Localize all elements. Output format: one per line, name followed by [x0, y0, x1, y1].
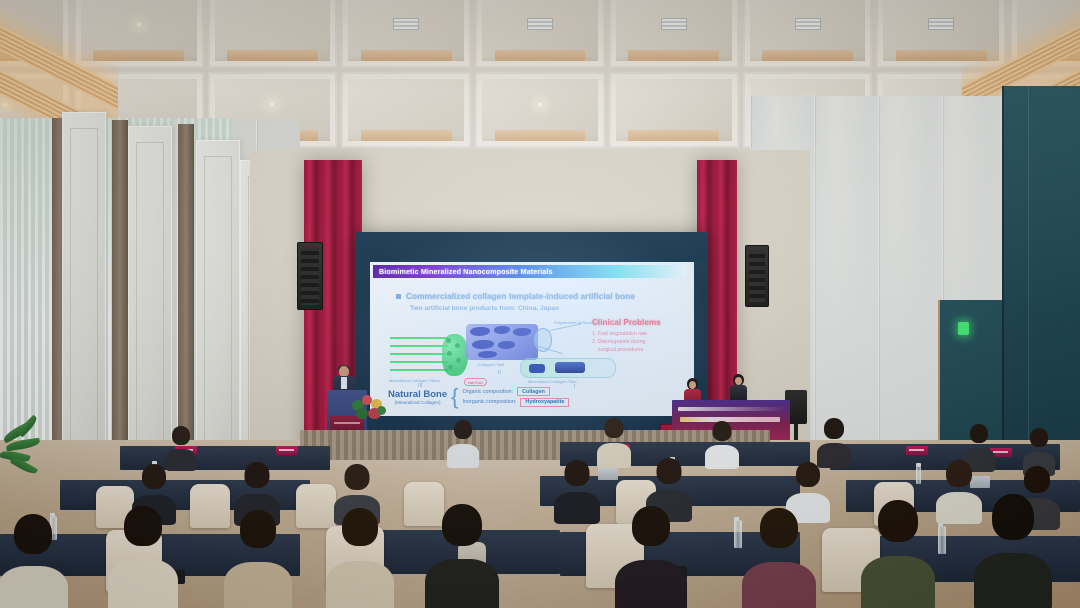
presenter-shirt [341, 377, 347, 389]
fiber-line [390, 345, 448, 347]
diagram-numeral-right: I [574, 384, 576, 390]
audience-member [330, 508, 390, 604]
line-array-speaker-left [297, 242, 323, 310]
nano-particle [529, 364, 545, 373]
audience-member [620, 506, 682, 604]
person-body [447, 444, 479, 468]
person-head [760, 508, 798, 548]
person-head [796, 462, 820, 487]
panelist [730, 374, 747, 400]
person-head [345, 464, 370, 490]
person-head [245, 462, 270, 488]
fiber-line [390, 353, 448, 355]
bottle-cap [916, 463, 921, 467]
ceiling-coffer [609, 0, 739, 68]
audience-member [706, 421, 738, 465]
natural-bone-label: Natural Bone (Mineralized Collagen) [388, 389, 447, 405]
banner-line [678, 407, 784, 411]
screen-letterbox [356, 232, 708, 262]
slide-bullet-text: Commercialized collagen template-induced… [406, 291, 635, 301]
diagram-numeral-mid: II [498, 370, 501, 376]
fibril-segment [494, 326, 510, 334]
mineral-dot [455, 343, 460, 348]
mineral-dot [446, 338, 451, 343]
person-body [554, 492, 600, 524]
fiber-line [390, 361, 448, 363]
ceiling-coffer [475, 0, 605, 68]
audience-member [112, 506, 174, 602]
person-body [108, 559, 178, 608]
table-nameplate [906, 446, 928, 455]
clinical-problem-item: 1. Fast degradation rate [592, 330, 684, 338]
composition-value: Collagen [517, 387, 550, 396]
clinical-problems-heading: Clinical Problems [592, 318, 684, 327]
clinical-problem-item: surgical procedures [592, 346, 684, 354]
person-head [454, 420, 472, 439]
audience-member [938, 460, 980, 518]
downlight-icon [269, 101, 276, 108]
composition-label: Inorganic composition: [462, 399, 516, 405]
downlight-icon [135, 21, 142, 28]
person-head [992, 494, 1034, 540]
person-head [713, 421, 732, 441]
bottle-cap [938, 523, 943, 527]
air-vent-icon [393, 18, 419, 30]
mineral-dot [448, 365, 453, 370]
fiber-line [390, 337, 448, 339]
collagen-fiber-bundle [390, 334, 468, 376]
person-head [657, 458, 682, 484]
audience-member [448, 420, 478, 464]
flower-leaf [377, 406, 386, 415]
diagram-label-collagen-fibril: Collagen Fibril [478, 362, 504, 367]
person-head [565, 460, 590, 486]
potted-plant [0, 418, 70, 488]
person-head [342, 508, 378, 546]
person-body [742, 562, 816, 608]
mineral-dot [447, 351, 452, 356]
brace-icon: { [451, 388, 458, 406]
natural-bone-name: Natural Bone [388, 389, 447, 400]
audience-member [980, 494, 1046, 602]
person-head [605, 418, 624, 438]
speaker-grille-icon [749, 250, 765, 302]
water-bottle [916, 466, 921, 484]
air-vent-icon [795, 18, 821, 30]
person-head [172, 426, 190, 445]
table-nameplate [276, 446, 298, 455]
fibril-segment [472, 340, 494, 349]
line-array-speaker-right [745, 245, 769, 307]
nameplate-text [279, 449, 294, 451]
audience-area [0, 418, 1080, 608]
ceiling-coffer [475, 72, 605, 149]
natural-bone-composition: Organic composition: Collagen Inorganic … [462, 386, 569, 409]
air-vent-icon [661, 18, 687, 30]
person-body [597, 443, 631, 468]
person-head [142, 464, 166, 489]
person-head [442, 504, 482, 546]
audience-chair [190, 484, 230, 528]
exit-sign-icon [958, 322, 969, 335]
audience-member [818, 418, 850, 464]
air-vent-icon [527, 18, 553, 30]
fibril-segment [470, 327, 490, 336]
slide-diagram: Mineralized Collagen Fibers III Collagen… [388, 320, 618, 388]
presentation-slide: Biomimetic Mineralized Nanocomposite Mat… [370, 262, 694, 416]
downlight-icon [536, 101, 543, 108]
diagram-label-fiber-bundle: Mineralized Collagen Fibers [389, 378, 440, 383]
natural-bone-subtitle: (Mineralized Collagen) [388, 400, 447, 405]
nameplate-text [909, 449, 924, 451]
audience-member [228, 510, 288, 604]
ceiling-coffer [208, 0, 338, 68]
person-body [861, 556, 935, 608]
speaker-grille-icon [301, 247, 319, 305]
panelist-face [735, 377, 742, 385]
clinical-problems-block: Clinical Problems 1. Fast degradation ra… [592, 318, 684, 354]
ceiling-coffer [743, 0, 873, 68]
person-head [946, 460, 972, 487]
audience-member [430, 504, 494, 604]
person-body [705, 445, 739, 469]
bottle-cap [734, 517, 739, 521]
conference-hall-photo: Biomimetic Mineralized Nanocomposite Mat… [0, 0, 1080, 608]
audience-member [556, 460, 598, 518]
person-body [425, 559, 499, 608]
mineralized-collagen-fiber-inset [520, 358, 616, 378]
person-head [878, 500, 918, 542]
clinical-problem-item: 2. Disintegration during [592, 338, 684, 346]
composition-row: Inorganic composition: Hydroxyapatite [462, 398, 569, 407]
fibril-segment [498, 341, 515, 349]
ceiling-coffer [609, 72, 739, 149]
person-head [240, 510, 276, 548]
fibril-segment [478, 351, 497, 358]
ceiling-coffer [341, 0, 471, 68]
composition-row: Organic composition: Collagen [462, 387, 569, 396]
slide-bullet-row: Commercialized collagen template-induced… [396, 291, 635, 301]
nano-particle [555, 362, 585, 373]
natural-bone-block: Natural Bone (Mineralized Collagen) { Or… [388, 386, 569, 409]
diagram-label-mineralized: Mineralized Collagen Fiber [528, 379, 577, 384]
person-head [14, 514, 52, 554]
fiber-line [390, 369, 448, 371]
fiber-bundle-head [442, 334, 468, 376]
slide-title: Biomimetic Mineralized Nanocomposite Mat… [373, 267, 553, 276]
audience-member [866, 500, 930, 602]
composition-label: Organic composition: [462, 389, 513, 395]
water-bottle [734, 520, 742, 548]
composition-value: Hydroxyapatite [520, 398, 569, 407]
slide-subline: Two artificial bone products from: China… [410, 305, 559, 312]
audience-member [598, 418, 630, 464]
collagen-fibril-structure [466, 324, 538, 360]
water-bottle [938, 526, 946, 554]
projection-screen: Biomimetic Mineralized Nanocomposite Mat… [356, 232, 708, 442]
person-body [974, 553, 1052, 608]
person-head [632, 506, 670, 546]
person-body [615, 560, 687, 608]
person-head [1030, 428, 1048, 447]
person-body [936, 492, 982, 524]
audience-member [166, 426, 196, 468]
person-body [326, 561, 394, 608]
person-head [124, 506, 162, 546]
clinical-problems-list: 1. Fast degradation rate 2. Disintegrati… [592, 330, 684, 354]
person-body [224, 562, 292, 608]
audience-member [748, 508, 810, 606]
ceiling-coffer [341, 72, 471, 149]
laptop[interactable] [598, 468, 618, 480]
air-vent-icon [928, 18, 954, 30]
nameplate-text [993, 451, 1008, 453]
person-head [824, 418, 844, 439]
panelist-torso [730, 385, 747, 401]
slide-title-bar: Biomimetic Mineralized Nanocomposite Mat… [373, 265, 686, 278]
person-body [0, 566, 68, 608]
person-head [1024, 466, 1050, 493]
person-head [970, 424, 988, 443]
panelist-face [689, 381, 696, 389]
mineral-dot [456, 358, 461, 363]
fibril-segment [513, 328, 531, 336]
audience-member [2, 514, 64, 608]
bullet-square-icon [396, 294, 401, 299]
